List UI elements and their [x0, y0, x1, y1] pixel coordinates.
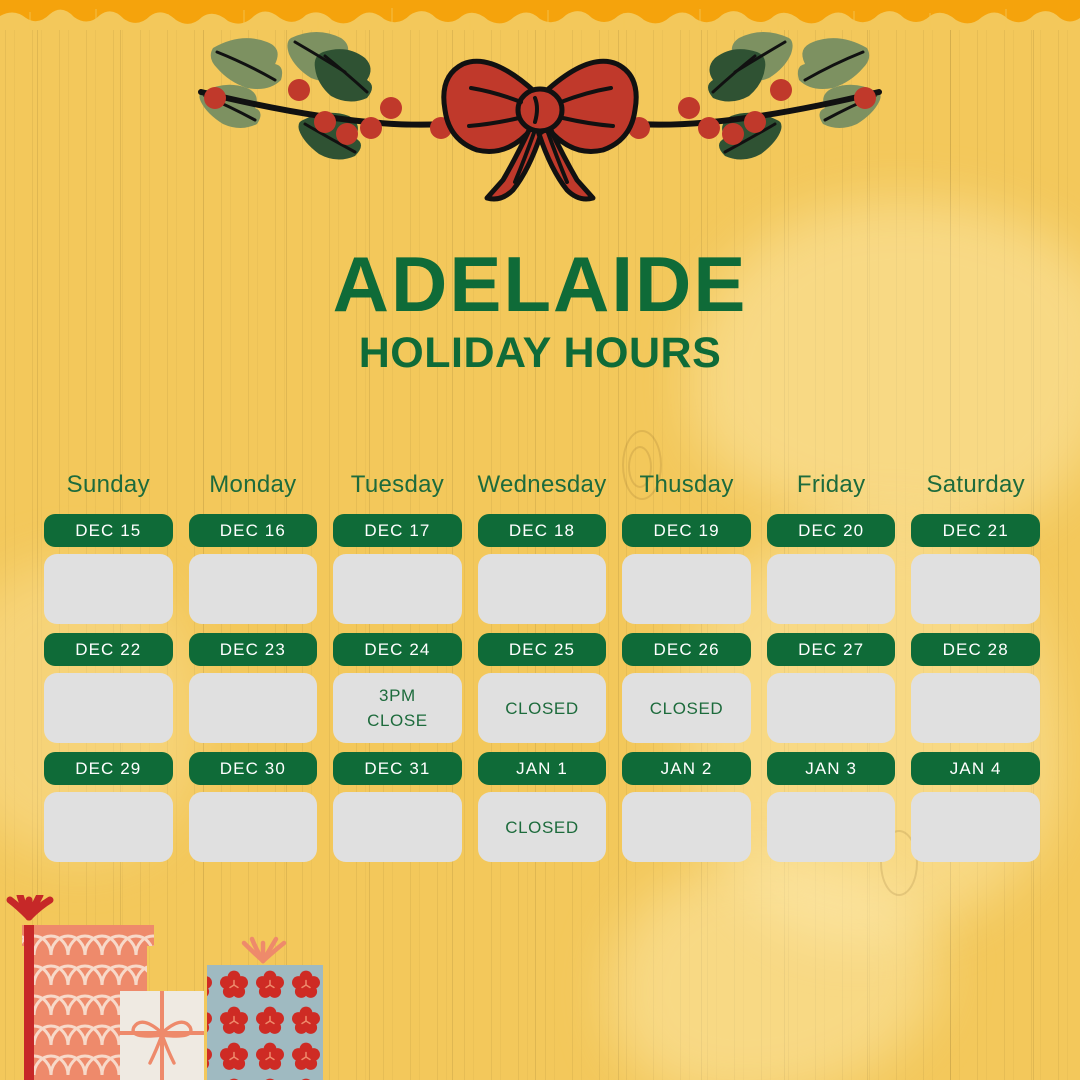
holiday-hours-calendar: SundayMondayTuesdayWednesdayThusdayFrida…: [36, 470, 1048, 871]
calendar-weeks: DEC 15DEC 16DEC 17DEC 18DEC 19DEC 20DEC …: [36, 514, 1048, 862]
date-pill: DEC 31: [333, 752, 462, 785]
hours-box: [767, 673, 896, 743]
holly-garland-with-bow-decoration: [195, 30, 885, 210]
date-pill: DEC 24: [333, 633, 462, 666]
calendar-day-cell[interactable]: DEC 30: [181, 752, 326, 862]
holiday-hours-poster: ADELAIDE HOLIDAY HOURS SundayMondayTuesd…: [0, 0, 1080, 1080]
date-pill: DEC 15: [44, 514, 173, 547]
hours-box: [767, 554, 896, 624]
hours-box: [189, 554, 318, 624]
date-pill: JAN 1: [478, 752, 607, 785]
gift-box-blue: [207, 939, 323, 1080]
calendar-day-cell[interactable]: JAN 4: [903, 752, 1048, 862]
day-of-week-header: Wednesday: [470, 470, 615, 500]
date-pill: DEC 28: [911, 633, 1040, 666]
date-pill: JAN 4: [911, 752, 1040, 785]
date-pill: DEC 22: [44, 633, 173, 666]
calendar-day-cell[interactable]: JAN 1CLOSED: [470, 752, 615, 862]
calendar-day-cell[interactable]: JAN 2: [614, 752, 759, 862]
calendar-day-cell[interactable]: DEC 29: [36, 752, 181, 862]
day-of-week-header: Friday: [759, 470, 904, 500]
gift-box-salmon: [10, 895, 154, 1080]
calendar-day-cell[interactable]: DEC 18: [470, 514, 615, 624]
date-pill: DEC 18: [478, 514, 607, 547]
hours-box: 3PMCLOSE: [333, 673, 462, 743]
holly-berries: [204, 79, 876, 145]
calendar-day-cell[interactable]: DEC 243PMCLOSE: [325, 633, 470, 743]
day-of-week-header-row: SundayMondayTuesdayWednesdayThusdayFrida…: [36, 470, 1048, 500]
calendar-day-cell[interactable]: DEC 31: [325, 752, 470, 862]
calendar-day-cell[interactable]: DEC 22: [36, 633, 181, 743]
calendar-day-cell[interactable]: DEC 23: [181, 633, 326, 743]
date-pill: DEC 17: [333, 514, 462, 547]
calendar-week-row: DEC 22DEC 23DEC 243PMCLOSEDEC 25CLOSEDDE…: [36, 633, 1048, 743]
hours-box: [478, 554, 607, 624]
calendar-day-cell[interactable]: DEC 27: [759, 633, 904, 743]
hours-box: CLOSED: [478, 673, 607, 743]
page-title: ADELAIDE: [0, 243, 1080, 325]
hours-box: CLOSED: [622, 673, 751, 743]
hours-box: [622, 554, 751, 624]
paint-wash-3: [610, 860, 940, 1080]
day-of-week-header: Tuesday: [325, 470, 470, 500]
day-of-week-header: Saturday: [903, 470, 1048, 500]
date-pill: JAN 2: [622, 752, 751, 785]
hours-box: [911, 673, 1040, 743]
date-pill: DEC 30: [189, 752, 318, 785]
garland-string: [201, 92, 879, 125]
calendar-day-cell[interactable]: JAN 3: [759, 752, 904, 862]
hours-box: [189, 673, 318, 743]
date-pill: JAN 3: [767, 752, 896, 785]
date-pill: DEC 25: [478, 633, 607, 666]
hours-box: [44, 792, 173, 862]
hours-box: CLOSED: [478, 792, 607, 862]
calendar-day-cell[interactable]: DEC 28: [903, 633, 1048, 743]
calendar-day-cell[interactable]: DEC 19: [614, 514, 759, 624]
hours-text-line: 3PM: [379, 683, 416, 708]
calendar-day-cell[interactable]: DEC 17: [325, 514, 470, 624]
top-paint-strip: [0, 0, 1080, 30]
hours-box: [44, 554, 173, 624]
hours-box: [911, 792, 1040, 862]
date-pill: DEC 29: [44, 752, 173, 785]
date-pill: DEC 27: [767, 633, 896, 666]
calendar-week-row: DEC 29DEC 30DEC 31JAN 1CLOSEDJAN 2JAN 3J…: [36, 752, 1048, 862]
hours-text-line: CLOSED: [650, 696, 724, 721]
date-pill: DEC 26: [622, 633, 751, 666]
gift-box-cream: [120, 991, 204, 1080]
hours-text-line: CLOSED: [505, 696, 579, 721]
calendar-day-cell[interactable]: DEC 25CLOSED: [470, 633, 615, 743]
calendar-day-cell[interactable]: DEC 26CLOSED: [614, 633, 759, 743]
hours-box: [189, 792, 318, 862]
gift-boxes-decoration: [0, 895, 340, 1080]
page-subtitle: HOLIDAY HOURS: [0, 329, 1080, 377]
date-pill: DEC 23: [189, 633, 318, 666]
hours-box: [44, 673, 173, 743]
hours-text-line: CLOSE: [367, 708, 428, 733]
day-of-week-header: Thusday: [614, 470, 759, 500]
hours-text-line: CLOSED: [505, 815, 579, 840]
calendar-day-cell[interactable]: DEC 21: [903, 514, 1048, 624]
date-pill: DEC 19: [622, 514, 751, 547]
day-of-week-header: Monday: [181, 470, 326, 500]
date-pill: DEC 21: [911, 514, 1040, 547]
day-of-week-header: Sunday: [36, 470, 181, 500]
hours-box: [767, 792, 896, 862]
calendar-day-cell[interactable]: DEC 16: [181, 514, 326, 624]
date-pill: DEC 16: [189, 514, 318, 547]
red-bow-icon: [444, 61, 636, 199]
hours-box: [622, 792, 751, 862]
hours-box: [333, 554, 462, 624]
holly-leaves-right: [708, 32, 881, 160]
holly-leaves-left: [199, 32, 372, 160]
hours-box: [333, 792, 462, 862]
hours-box: [911, 554, 1040, 624]
calendar-week-row: DEC 15DEC 16DEC 17DEC 18DEC 19DEC 20DEC …: [36, 514, 1048, 624]
poster-headings: ADELAIDE HOLIDAY HOURS: [0, 243, 1080, 377]
calendar-day-cell[interactable]: DEC 15: [36, 514, 181, 624]
date-pill: DEC 20: [767, 514, 896, 547]
calendar-day-cell[interactable]: DEC 20: [759, 514, 904, 624]
